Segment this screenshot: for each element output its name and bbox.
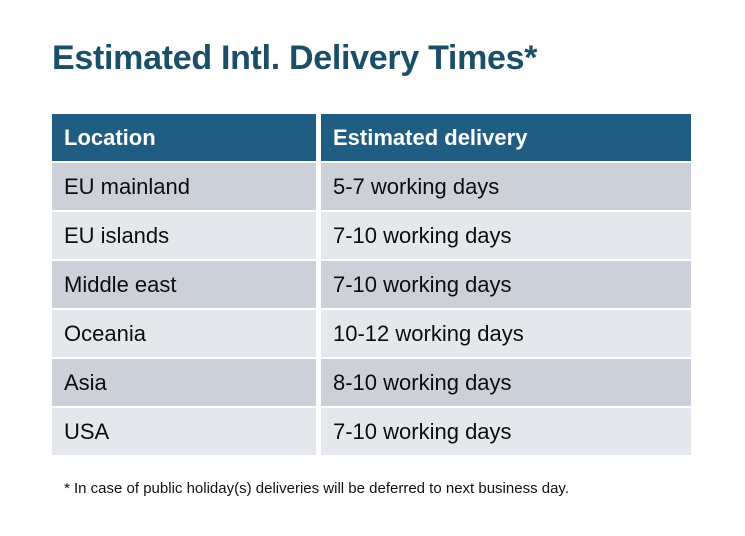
cell-estimated-delivery: 7-10 working days: [321, 212, 691, 259]
cell-location: EU mainland: [52, 163, 316, 210]
cell-location: USA: [52, 408, 316, 455]
cell-location: EU islands: [52, 212, 316, 259]
cell-location: Asia: [52, 359, 316, 406]
cell-estimated-delivery: 8-10 working days: [321, 359, 691, 406]
table-row: Middle east 7-10 working days: [52, 261, 691, 308]
column-header-location: Location: [52, 114, 316, 161]
table-row: EU mainland 5-7 working days: [52, 163, 691, 210]
cell-location: Oceania: [52, 310, 316, 357]
table-header-row: Location Estimated delivery: [52, 114, 691, 161]
footnote-text: * In case of public holiday(s) deliverie…: [64, 479, 569, 499]
delivery-times-table: Location Estimated delivery EU mainland …: [52, 114, 691, 455]
table-row: Asia 8-10 working days: [52, 359, 691, 406]
cell-estimated-delivery: 7-10 working days: [321, 408, 691, 455]
cell-estimated-delivery: 7-10 working days: [321, 261, 691, 308]
delivery-times-card: Estimated Intl. Delivery Times* Location…: [0, 0, 745, 536]
table-row: Oceania 10-12 working days: [52, 310, 691, 357]
cell-estimated-delivery: 5-7 working days: [321, 163, 691, 210]
page-title: Estimated Intl. Delivery Times*: [52, 36, 537, 80]
table-row: USA 7-10 working days: [52, 408, 691, 455]
table-row: EU islands 7-10 working days: [52, 212, 691, 259]
column-header-estimated-delivery: Estimated delivery: [321, 114, 691, 161]
cell-estimated-delivery: 10-12 working days: [321, 310, 691, 357]
cell-location: Middle east: [52, 261, 316, 308]
